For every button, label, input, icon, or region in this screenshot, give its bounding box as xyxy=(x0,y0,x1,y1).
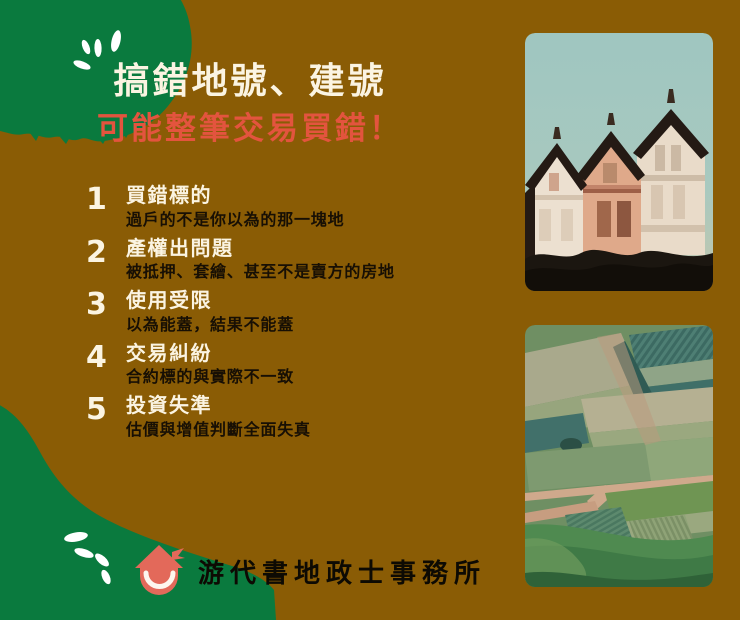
brand-name: 游代書地政士事務所 xyxy=(198,553,486,590)
list-item: 1 買錯標的 過戶的不是你以為的那一塊地 xyxy=(86,184,516,230)
list-item-number: 5 xyxy=(86,394,126,425)
brand-footer: 游代書地政士事務所 xyxy=(132,542,486,600)
list-item-heading: 買錯標的 xyxy=(126,184,516,208)
list-item-text: 產權出問題 被抵押、套繪、甚至不是賣方的房地 xyxy=(126,237,516,283)
house-smile-icon xyxy=(132,542,188,600)
warning-list: 1 買錯標的 過戶的不是你以為的那一塊地 2 產權出問題 被抵押、套繪、甚至不是… xyxy=(86,184,516,447)
aerial-farmland-photo xyxy=(525,325,713,587)
list-item: 5 投資失準 估價與增值判斷全面失真 xyxy=(86,394,516,440)
list-item-heading: 使用受限 xyxy=(126,289,516,313)
list-item: 4 交易糾紛 合約標的與實際不一致 xyxy=(86,342,516,388)
list-item-number: 4 xyxy=(86,342,126,373)
sparkle-marks-bottom xyxy=(63,530,112,585)
list-item-text: 使用受限 以為能蓋，結果不能蓋 xyxy=(126,289,516,335)
list-item-number: 3 xyxy=(86,289,126,320)
list-item-detail: 過戶的不是你以為的那一塊地 xyxy=(126,210,516,230)
page-title: 搞錯地號、建號 xyxy=(0,62,500,102)
list-item: 2 產權出問題 被抵押、套繪、甚至不是賣方的房地 xyxy=(86,237,516,283)
list-item-detail: 合約標的與實際不一致 xyxy=(126,367,516,387)
list-item-detail: 以為能蓋，結果不能蓋 xyxy=(126,315,516,335)
list-item: 3 使用受限 以為能蓋，結果不能蓋 xyxy=(86,289,516,335)
list-item-heading: 投資失準 xyxy=(126,394,516,418)
page-subtitle: 可能整筆交易買錯！ xyxy=(0,112,500,148)
list-item-number: 2 xyxy=(86,237,126,268)
list-item-detail: 估價與增值判斷全面失真 xyxy=(126,420,516,440)
list-item-heading: 交易糾紛 xyxy=(126,342,516,366)
list-item-text: 投資失準 估價與增值判斷全面失真 xyxy=(126,394,516,440)
list-item-detail: 被抵押、套繪、甚至不是賣方的房地 xyxy=(126,262,516,282)
victorian-houses-photo xyxy=(525,33,713,291)
list-item-number: 1 xyxy=(86,184,126,215)
header-block: 搞錯地號、建號 可能整筆交易買錯！ xyxy=(0,62,500,148)
list-item-text: 買錯標的 過戶的不是你以為的那一塊地 xyxy=(126,184,516,230)
poster-canvas: 搞錯地號、建號 可能整筆交易買錯！ 1 買錯標的 過戶的不是你以為的那一塊地 2… xyxy=(0,0,740,620)
list-item-heading: 產權出問題 xyxy=(126,237,516,261)
list-item-text: 交易糾紛 合約標的與實際不一致 xyxy=(126,342,516,388)
